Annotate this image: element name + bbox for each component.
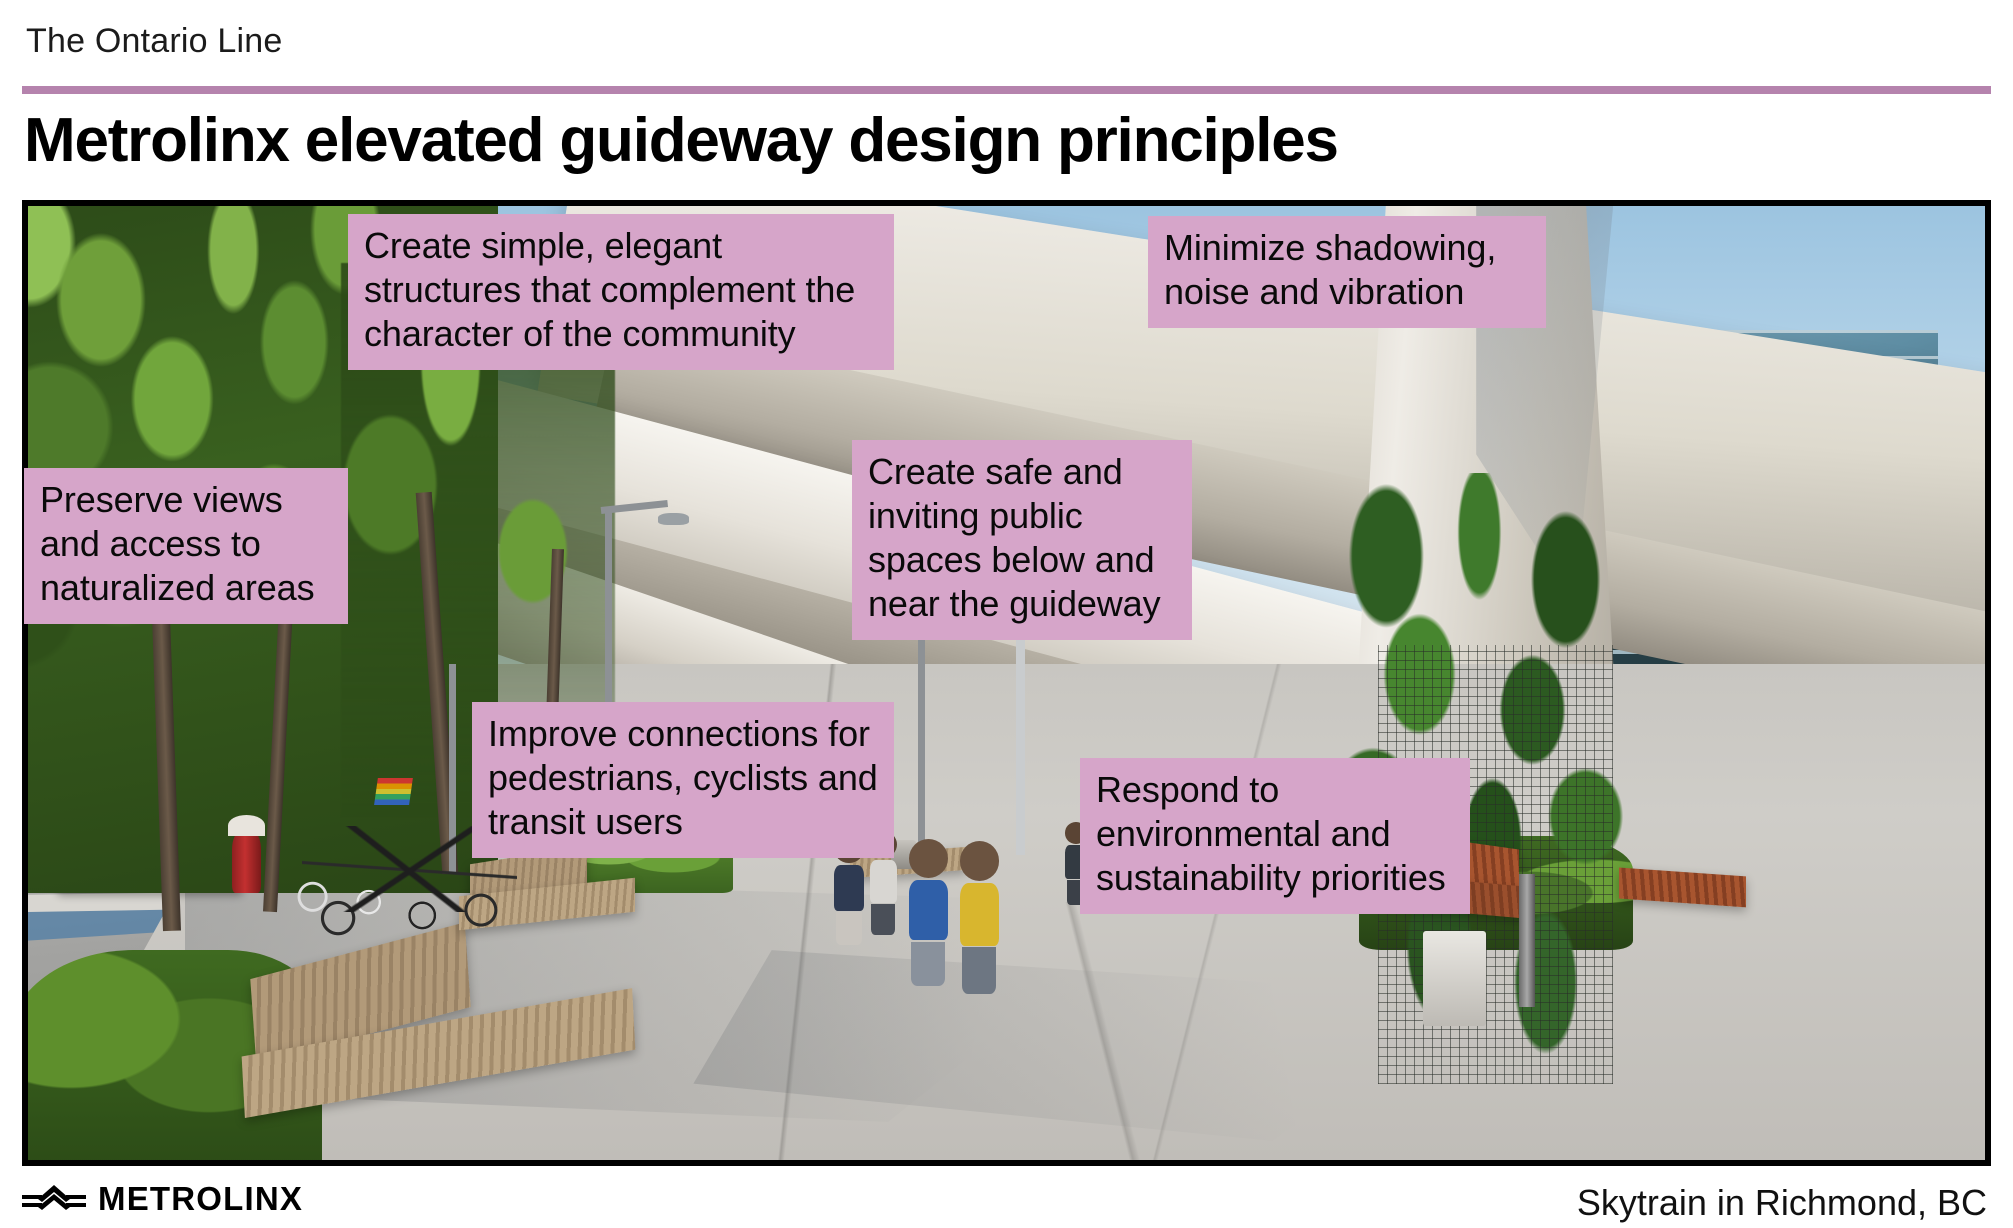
fire-hydrant	[232, 831, 261, 893]
pedestrian	[960, 841, 999, 883]
metrolinx-wordmark: METROLINX	[98, 1180, 303, 1218]
utility-pole	[918, 607, 925, 855]
photo-frame: Roy	[22, 200, 1991, 1166]
metrolinx-logo: METROLINX	[22, 1180, 303, 1218]
callout-improve-connections: Improve connections for pedestrians, cyc…	[472, 702, 894, 858]
callout-respond-environmental: Respond to environmental and sustainabil…	[1080, 758, 1470, 914]
callout-safe-inviting-spaces: Create safe and inviting public spaces b…	[852, 440, 1192, 640]
page-title: Metrolinx elevated guideway design princ…	[24, 108, 1338, 173]
fire-hydrant-cap	[228, 815, 265, 836]
callout-minimize-shadowing: Minimize shadowing, noise and vibration	[1148, 216, 1546, 328]
metrolinx-mark-icon	[22, 1182, 86, 1216]
photo-skytrain-richmond: Roy	[28, 206, 1985, 1160]
pedestrian	[909, 839, 948, 879]
callout-preserve-views: Preserve views and access to naturalized…	[24, 468, 348, 624]
street-light-lamp	[658, 513, 689, 524]
photo-caption: Skytrain in Richmond, BC	[1577, 1182, 1987, 1224]
eyebrow-label: The Ontario Line	[26, 24, 282, 58]
slide-root: The Ontario Line Metrolinx elevated guid…	[0, 0, 2013, 1228]
bollard	[1519, 874, 1535, 1008]
header-divider-rule	[22, 86, 1991, 94]
rainbow-flag	[374, 778, 413, 805]
callout-simple-elegant-structures: Create simple, elegant structures that c…	[348, 214, 894, 370]
utility-cabinet	[1423, 931, 1486, 1026]
